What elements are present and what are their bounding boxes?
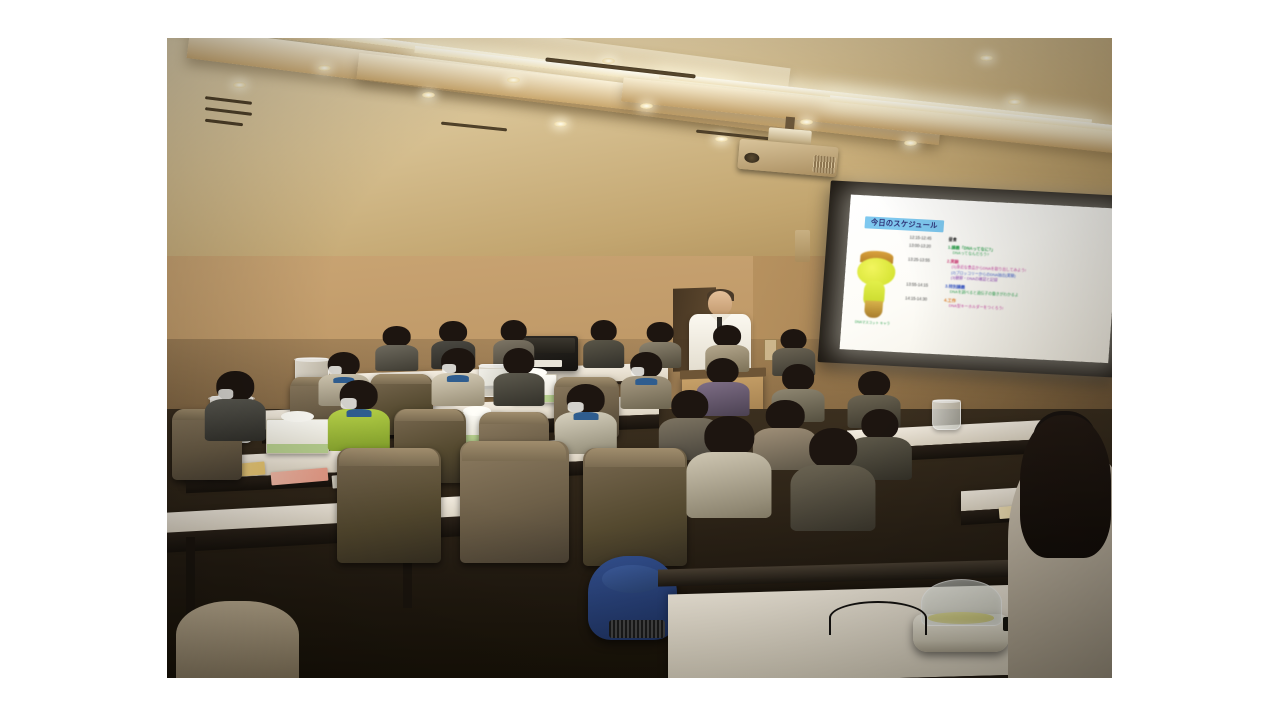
- student-body: [791, 465, 876, 531]
- student-head: [782, 364, 814, 390]
- neck-scarf: [573, 412, 598, 420]
- power-cord: [829, 601, 928, 635]
- student: [328, 380, 390, 450]
- person-hair: [1020, 415, 1111, 558]
- tissue-box-band: [267, 444, 327, 453]
- ceiling-vent: [205, 107, 252, 116]
- chair-headrest: [339, 448, 439, 466]
- schedule-item: 昼食: [948, 237, 957, 243]
- photo-page: 今日のスケジュール DNAマスコット キャラ 12:15-12:45 昼食: [0, 0, 1280, 720]
- projector-lens-icon: [744, 152, 760, 163]
- slide-schedule-list: 12:15-12:45 昼食 13:00-13:20 1.講義「DNAってなに?…: [904, 235, 1109, 320]
- cup-rim: [932, 399, 962, 404]
- schedule-time: 13:55-14:15: [905, 282, 940, 295]
- student-head: [706, 358, 739, 384]
- student: [687, 416, 772, 518]
- schedule-heading: 3.特別講義: [945, 284, 965, 290]
- projection-screen: 今日のスケジュール DNAマスコット キャラ 12:15-12:45 昼食: [839, 195, 1112, 364]
- student-head: [441, 348, 475, 374]
- plastic-cup: [932, 400, 960, 430]
- lecture-hall-photograph: 今日のスケジュール DNAマスコット キャラ 12:15-12:45 昼食: [167, 38, 1112, 678]
- ceiling-vent: [205, 96, 252, 105]
- downlight-icon: [980, 55, 993, 61]
- downlight-icon: [422, 92, 435, 98]
- student-head: [590, 320, 617, 342]
- student-head: [858, 371, 890, 397]
- student-head: [327, 352, 360, 377]
- schedule-time: 13:00-13:20: [908, 243, 943, 256]
- student-body: [205, 399, 265, 441]
- student-head: [439, 321, 467, 343]
- student: [493, 348, 544, 406]
- schedule-item: 4.工作 DNA型キーホルダーをつくろう!: [943, 298, 1003, 313]
- dna-mascot-illustration: DNAマスコット キャラ: [849, 248, 900, 322]
- downlight-icon: [1008, 99, 1021, 105]
- chair-headrest: [462, 441, 566, 460]
- student-head: [705, 416, 754, 457]
- schedule-item: 1.講義「DNAってなに?」 DNAってなんだろう?: [947, 245, 995, 259]
- downlight-icon: [800, 119, 813, 125]
- chair-headrest: [480, 412, 547, 424]
- student-body: [375, 345, 418, 371]
- student-body: [493, 373, 544, 406]
- schedule-subitem: DNA型キーホルダーをつくろう!: [943, 304, 1003, 313]
- face-mask: [218, 389, 233, 400]
- slide-title: 今日のスケジュール: [864, 216, 944, 232]
- downlight-icon: [602, 58, 615, 64]
- schedule-heading: 昼食: [948, 237, 957, 242]
- student-head: [216, 371, 253, 402]
- tissue-box: [266, 419, 328, 454]
- student-head: [809, 428, 857, 469]
- schedule-time: 13:25-13:55: [906, 257, 942, 281]
- face-mask: [341, 398, 356, 409]
- schedule-heading: 2.実験: [947, 259, 959, 265]
- schedule-item: 3.特別講義 DNAを調べると遺伝子の働きがわかるよ: [944, 284, 1019, 299]
- student-head: [382, 326, 411, 347]
- face-mask: [329, 366, 342, 375]
- ceiling-vent: [205, 118, 243, 126]
- neck-scarf: [346, 409, 371, 417]
- centrifuge-dome-lid: [921, 579, 1002, 627]
- chair-headrest: [395, 409, 464, 421]
- downlight-icon: [554, 121, 567, 127]
- mascot-tail: [863, 301, 883, 319]
- lecturer-head: [708, 291, 732, 316]
- student: [583, 320, 625, 368]
- student-head: [339, 380, 378, 411]
- downlight-icon: [904, 140, 917, 146]
- projector-vent: [812, 155, 835, 174]
- downlight-icon: [715, 136, 728, 142]
- seated-person-left: [176, 601, 299, 678]
- slide-content: 今日のスケジュール DNAマスコット キャラ 12:15-12:45 昼食: [839, 195, 1112, 364]
- schedule-time: 12:15-12:45: [909, 235, 943, 243]
- ceiling-projector: [737, 127, 839, 177]
- neck-scarf: [447, 375, 469, 382]
- face-mask: [632, 367, 645, 376]
- student-head: [780, 329, 807, 351]
- student-head: [630, 352, 662, 378]
- student: [205, 371, 265, 441]
- face-mask: [442, 364, 456, 373]
- student-body: [583, 340, 625, 368]
- schedule-time: 14:15-14:30: [904, 296, 939, 309]
- face-mask: [568, 402, 583, 413]
- tissue-puff: [281, 411, 315, 422]
- backpack-flap: [602, 565, 663, 593]
- student: [375, 326, 418, 371]
- seated-person-right: [1008, 448, 1112, 678]
- student-head: [647, 322, 674, 343]
- schedule-heading: 4.工作: [944, 298, 956, 304]
- student-head: [503, 348, 535, 374]
- projection-screen-frame: 今日のスケジュール DNAマスコット キャラ 12:15-12:45 昼食: [817, 181, 1112, 378]
- student-head: [500, 320, 527, 342]
- downlight-icon: [233, 82, 246, 88]
- neck-scarf: [635, 378, 656, 385]
- backpack-mesh-pocket: [609, 620, 665, 638]
- student-body: [687, 452, 772, 518]
- mascot-label: DNAマスコット キャラ: [846, 319, 898, 327]
- desk-leg: [186, 537, 195, 620]
- chair: [460, 441, 569, 563]
- wall-speaker: [795, 230, 809, 262]
- schedule-item: 2.実験 (1)身近な食品からDNAを取り出してみよう! (2)ブロッコリーから…: [945, 259, 1026, 286]
- ceiling-vent: [441, 122, 507, 132]
- chair: [337, 448, 441, 563]
- student: [432, 348, 485, 406]
- chair-headrest: [585, 448, 685, 467]
- chair: [583, 448, 687, 566]
- student-head: [566, 384, 605, 415]
- student-head: [713, 325, 741, 347]
- student: [791, 428, 876, 530]
